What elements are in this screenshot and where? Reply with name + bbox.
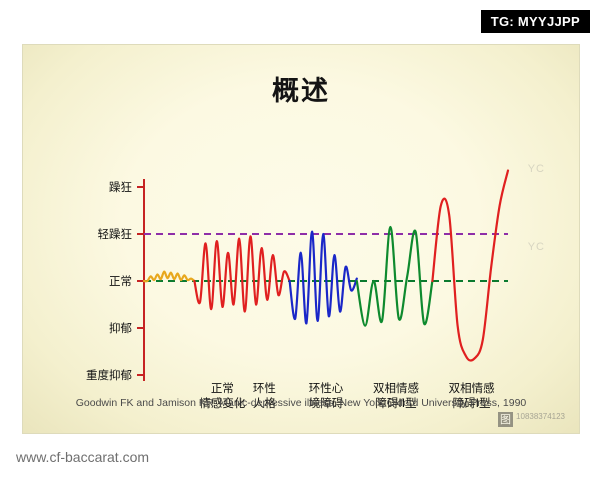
mood-chart: 躁狂轻躁狂正常抑郁重度抑郁 正常情感变化环性人格环性心境障碍双相情感障碍II型双…: [23, 45, 579, 433]
telegram-tag-badge: TG: MYYJJPP: [481, 10, 590, 33]
y-axis-label-3: 抑郁: [109, 320, 132, 336]
series-line-3: [357, 227, 433, 326]
series-line-1: [194, 236, 289, 311]
y-axis-label-4: 重度抑郁: [86, 367, 132, 383]
series-line-2: [290, 232, 357, 324]
y-axis-label-0: 躁狂: [109, 179, 132, 195]
x-axis-label-line1: 双相情感: [427, 381, 517, 396]
footer-url-text: www.cf-baccarat.com: [16, 449, 149, 465]
slide-canvas: 概述 YC YC 图 10838374123 躁狂轻躁狂正常抑郁重度抑郁 正常情…: [22, 44, 580, 434]
series-line-4: [432, 171, 508, 361]
y-axis-label-2: 正常: [109, 273, 132, 289]
citation-text: Goodwin FK and Jamison KR. Manic-depress…: [23, 397, 579, 409]
series-line-0: [144, 272, 194, 282]
footer-url-bar: www.cf-baccarat.com: [0, 436, 600, 480]
y-axis-label-1: 轻躁狂: [98, 226, 133, 242]
